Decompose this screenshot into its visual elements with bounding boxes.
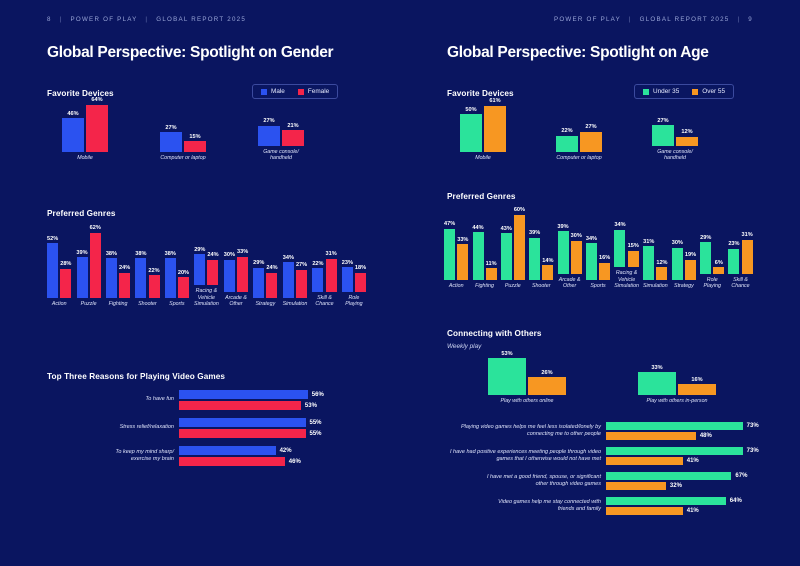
bar-value-label: 38%	[135, 251, 146, 257]
bar-row: 41%	[606, 457, 759, 465]
bar	[165, 258, 176, 298]
bar-group: 44%11%Fighting	[472, 210, 496, 290]
bar-row: 67%	[606, 472, 747, 480]
bar-value-label: 27%	[263, 118, 274, 124]
bar	[486, 268, 497, 280]
bar	[457, 244, 468, 280]
bar-pair: 38%22%	[135, 228, 159, 298]
bar-category-label: Action	[449, 283, 464, 290]
bar-row: 73%	[606, 422, 759, 430]
bar-pair: 29%24%	[253, 228, 277, 298]
bar-column: 34%	[283, 255, 294, 299]
bar-column: 39%	[529, 230, 540, 280]
bar-value-label: 6%	[715, 260, 723, 266]
runhead-brand: POWER OF PLAY	[71, 16, 138, 23]
bar-column: 16%	[599, 255, 610, 280]
bar-value-label: 64%	[726, 498, 742, 504]
bar	[580, 132, 602, 153]
bar-category-label: Mobile	[475, 155, 491, 162]
bar-group: 52%28%Action	[47, 228, 71, 308]
bar	[224, 260, 235, 292]
bar-category-label: Racing & Vehicle Simulation	[194, 288, 219, 308]
legend-label-over-55: Over 55	[702, 88, 725, 95]
bar-value-label: 29%	[253, 260, 264, 266]
bar-group: 33%16%Play with others in-person	[638, 353, 716, 405]
bar-column: 18%	[355, 265, 366, 292]
bar-value-label: 12%	[656, 260, 667, 266]
bar-value-label: 16%	[691, 377, 702, 383]
bar-column: 62%	[90, 225, 101, 298]
bar-column: 50%	[460, 107, 482, 153]
bar-column: 43%	[501, 226, 512, 281]
bar-group: 43%60%Puzzle	[501, 210, 525, 290]
row-bars: 56%53%	[179, 390, 324, 410]
bar	[713, 267, 724, 274]
bar-pair: 39%14%	[529, 210, 553, 280]
bar	[685, 260, 696, 281]
bar-column: 52%	[47, 236, 58, 299]
bar-pair: 34%27%	[283, 228, 307, 298]
bar-category-label: Arcade & Other	[225, 295, 247, 308]
row-label: I have had positive experiences meeting …	[422, 449, 606, 463]
row-label: To have fun	[47, 396, 179, 403]
bar-category-label: Role Playing	[345, 295, 362, 308]
bar-column: 39%	[557, 224, 568, 274]
bar	[556, 136, 578, 153]
bar	[678, 384, 716, 395]
bar	[283, 262, 294, 298]
bar	[179, 401, 301, 410]
bar	[179, 446, 276, 455]
bar-value-label: 23%	[728, 241, 739, 247]
bar-value-label: 52%	[47, 236, 58, 242]
bar-column: 39%	[76, 250, 87, 299]
page-title-right: Global Perspective: Spotlight on Age	[447, 44, 709, 62]
bar-category-label: Skill & Chance	[315, 295, 333, 308]
runhead-separator-r1: |	[624, 16, 637, 23]
bar-group: 30%19%Strategy	[672, 210, 696, 290]
bar-column: 38%	[135, 251, 146, 299]
bar-value-label: 24%	[119, 265, 130, 271]
bar-value-label: 26%	[541, 370, 552, 376]
bar-pair: 22%31%	[312, 222, 336, 292]
bar-column: 28%	[60, 261, 71, 298]
bar	[558, 231, 569, 274]
bar	[47, 243, 58, 298]
bar-category-label: Game console/ handheld	[657, 149, 693, 162]
bar-category-label: Sports	[590, 283, 605, 290]
bar-column: 61%	[484, 98, 506, 152]
table-row: Playing video games helps me feel less i…	[422, 422, 759, 440]
bar-value-label: 23%	[342, 260, 353, 266]
bar-value-label: 67%	[731, 473, 747, 479]
bar-pair: 29%6%	[700, 204, 724, 274]
bar-column: 60%	[514, 207, 525, 280]
bar-value-label: 30%	[672, 240, 683, 246]
bar-value-label: 33%	[651, 365, 662, 371]
table-row: To keep my mind sharp/ exercise my brain…	[47, 446, 324, 466]
bar	[77, 257, 88, 298]
bar-pair: 34%15%	[614, 197, 638, 267]
bar-value-label: 33%	[457, 237, 468, 243]
bar-value-label: 61%	[489, 98, 500, 104]
bar-column: 27%	[258, 118, 280, 146]
bar-value-label: 46%	[285, 459, 301, 465]
section-title-favorite-devices-right: Favorite Devices	[447, 89, 514, 98]
bar-column: 31%	[326, 251, 337, 291]
bar-category-label: Play with others online	[501, 398, 554, 405]
bar-value-label: 43%	[501, 226, 512, 232]
bar-row: 53%	[179, 401, 324, 410]
bar	[355, 273, 366, 292]
bar	[606, 432, 696, 440]
bar-value-label: 50%	[465, 107, 476, 113]
bar-group: 39%62%Puzzle	[76, 228, 100, 308]
bar	[179, 418, 306, 427]
bar	[599, 263, 610, 281]
bar-value-label: 27%	[585, 124, 596, 130]
bar-group: 34%27%Simulation	[283, 228, 308, 308]
bar-pair: 30%19%	[672, 210, 696, 280]
bar-value-label: 30%	[571, 233, 582, 239]
bar	[571, 241, 582, 274]
bar-row: 48%	[606, 432, 759, 440]
bar	[444, 229, 455, 280]
bar-column: 29%	[253, 260, 264, 298]
bar	[656, 267, 667, 280]
bar	[728, 249, 739, 274]
bar-group: 38%24%Fighting	[106, 228, 130, 308]
bar	[86, 105, 108, 153]
bar	[160, 132, 182, 152]
chart-favorite-devices-right: 50%61%Mobile22%27%Computer or laptop27%1…	[460, 100, 698, 162]
row-label: Stress relief/relaxation	[47, 424, 179, 431]
bar-category-label: Role Playing	[704, 277, 721, 290]
bar-pair: 22%27%	[556, 100, 602, 152]
bar	[606, 422, 743, 430]
bar	[606, 482, 666, 490]
bar-pair: 50%61%	[460, 100, 506, 152]
bar-pair: 29%24%	[194, 215, 218, 285]
bar-pair: 38%24%	[106, 228, 130, 298]
bar	[606, 507, 683, 515]
chart-connecting-statements: Playing video games helps me feel less i…	[422, 422, 759, 515]
bar-value-label: 24%	[266, 265, 277, 271]
runhead-report-right: GLOBAL REPORT 2025	[640, 16, 730, 23]
bar-value-label: 41%	[683, 508, 699, 514]
bar-value-label: 62%	[90, 225, 101, 231]
bar	[700, 242, 711, 274]
bar	[460, 114, 482, 152]
bar	[676, 137, 698, 146]
bar	[194, 254, 205, 285]
bar-column: 27%	[580, 124, 602, 152]
bar-pair: 30%33%	[224, 222, 248, 292]
bar	[529, 238, 540, 281]
table-row: To have fun56%53%	[47, 390, 324, 410]
bar-row: 73%	[606, 447, 759, 455]
bar-column: 34%	[586, 236, 597, 281]
bar-column: 47%	[444, 221, 455, 280]
bar-value-label: 33%	[237, 249, 248, 255]
bar-category-label: Fighting	[475, 283, 494, 290]
bar-column: 21%	[282, 123, 304, 146]
bar-pair: 38%20%	[165, 228, 189, 298]
bar-column: 16%	[678, 377, 716, 396]
bar-column: 33%	[638, 365, 676, 396]
bar-group: 29%24%Racing & Vehicle Simulation	[194, 215, 219, 308]
chart-top-reasons: To have fun56%53%Stress relief/relaxatio…	[47, 390, 324, 466]
section-title-reasons: Top Three Reasons for Playing Video Game…	[47, 372, 225, 381]
bar	[179, 390, 308, 399]
row-bars: 42%46%	[179, 446, 301, 466]
bar-column: 12%	[656, 260, 667, 281]
bar-row: 41%	[606, 507, 742, 515]
bar-value-label: 38%	[165, 251, 176, 257]
bar-category-label: Game console/ handheld	[263, 149, 299, 162]
bar-group: 23%18%Role Playing	[342, 222, 366, 308]
bar-group: 30%33%Arcade & Other	[224, 222, 248, 308]
bar-pair: 27%15%	[160, 100, 206, 152]
bar-group: 27%15%Computer or laptop	[160, 100, 206, 162]
bar-row: 55%	[179, 418, 322, 427]
bar-group: 34%15%Racing & Vehicle Simulation	[614, 197, 639, 290]
bar-value-label: 39%	[557, 224, 568, 230]
row-label: I have met a good friend, spouse, or sig…	[422, 474, 606, 488]
bar-value-label: 15%	[628, 243, 639, 249]
bar-value-label: 53%	[501, 351, 512, 357]
bar-column: 15%	[628, 243, 639, 267]
section-title-connecting: Connecting with Others	[447, 329, 542, 338]
bar-value-label: 56%	[308, 392, 324, 398]
bar	[643, 246, 654, 280]
runhead-separator: |	[55, 16, 68, 23]
bar-category-label: Racing & Vehicle Simulation	[614, 270, 639, 290]
bar	[282, 130, 304, 146]
bar-value-label: 27%	[296, 262, 307, 268]
bar-column: 31%	[742, 232, 753, 273]
row-bars: 73%41%	[606, 447, 759, 465]
bar-group: 47%33%Action	[444, 210, 468, 290]
bar-group: 23%31%Skill & Chance	[728, 204, 752, 290]
bar-column: 30%	[571, 233, 582, 273]
bar	[638, 372, 676, 395]
bar-group: 22%31%Skill & Chance	[312, 222, 336, 308]
bar-column: 22%	[312, 261, 323, 292]
chart-weekly-play: 53%26%Play with others online33%16%Play …	[488, 355, 716, 405]
bar-value-label: 12%	[681, 129, 692, 135]
bar-pair: 44%11%	[472, 210, 496, 280]
bar-pair: 39%30%	[557, 204, 581, 274]
bar	[672, 248, 683, 281]
bar	[253, 268, 264, 299]
bar-column: 11%	[486, 261, 497, 281]
bar	[514, 215, 525, 281]
bar-category-label: Puzzle	[505, 283, 521, 290]
bar-group: 38%22%Shooter	[135, 228, 159, 308]
bar-pair: 27%21%	[258, 94, 304, 146]
bar-column: 64%	[86, 97, 108, 152]
bar-value-label: 34%	[614, 222, 625, 228]
chart-preferred-genres-right: 47%33%Action44%11%Fighting43%60%Puzzle39…	[444, 210, 753, 290]
bar	[179, 429, 306, 438]
bar-group: 27%21%Game console/ handheld	[258, 94, 304, 162]
bar	[542, 265, 553, 280]
bar	[326, 259, 337, 292]
bar-value-label: 41%	[683, 458, 699, 464]
bar-group: 46%64%Mobile	[62, 100, 108, 162]
chart-preferred-genres-left: 52%28%Action39%62%Puzzle38%24%Fighting38…	[47, 228, 366, 308]
bar	[606, 497, 726, 505]
bar	[258, 126, 280, 146]
bar-column: 19%	[685, 252, 696, 280]
bar-value-label: 55%	[306, 420, 322, 426]
bar-group: 53%26%Play with others online	[488, 353, 566, 405]
bar	[742, 240, 753, 274]
bar-value-label: 53%	[301, 403, 317, 409]
bar-column: 20%	[178, 270, 189, 299]
bar-group: 34%16%Sports	[586, 210, 610, 290]
bar-column: 34%	[614, 222, 625, 267]
bar-value-label: 22%	[148, 268, 159, 274]
bar-value-label: 73%	[743, 423, 759, 429]
bar-pair: 23%18%	[342, 222, 366, 292]
bar-group: 31%12%Simulation	[643, 210, 668, 290]
bar-group: 50%61%Mobile	[460, 100, 506, 162]
bar-value-label: 29%	[700, 235, 711, 241]
bar	[266, 273, 277, 298]
row-label: Video games help me stay connected with …	[422, 499, 606, 513]
table-row: Video games help me stay connected with …	[422, 497, 759, 515]
bar-category-label: Simulation	[283, 301, 308, 308]
bar-column: 22%	[556, 128, 578, 152]
bar-row: 32%	[606, 482, 747, 490]
bar-group: 29%24%Strategy	[253, 228, 277, 308]
bar-row: 55%	[179, 429, 322, 438]
bar-value-label: 34%	[283, 255, 294, 261]
page-title-left: Global Perspective: Spotlight on Gender	[47, 44, 333, 62]
bar	[488, 358, 526, 395]
bar-category-label: Puzzle	[81, 301, 97, 308]
bar-column: 27%	[296, 262, 307, 298]
bar-column: 27%	[160, 125, 182, 153]
bar	[237, 257, 248, 292]
bar-pair: 27%12%	[652, 94, 698, 146]
row-label: Playing video games helps me feel less i…	[422, 424, 606, 438]
bar-column: 23%	[728, 241, 739, 274]
table-row: I have had positive experiences meeting …	[422, 447, 759, 465]
bar-value-label: 31%	[326, 251, 337, 257]
bar-value-label: 48%	[696, 433, 712, 439]
bar-category-label: Action	[52, 301, 67, 308]
bar	[484, 106, 506, 153]
bar-value-label: 73%	[743, 448, 759, 454]
bar-value-label: 11%	[486, 261, 497, 267]
bar-category-label: Play with others in-person	[647, 398, 708, 405]
bar	[312, 268, 323, 291]
row-bars: 67%32%	[606, 472, 747, 490]
bar	[149, 275, 160, 298]
bar	[135, 258, 146, 298]
bar-value-label: 18%	[355, 265, 366, 271]
bar	[528, 377, 566, 395]
runhead-separator-2: |	[140, 16, 153, 23]
bar-group: 39%14%Shooter	[529, 210, 553, 290]
runhead-separator-r2: |	[732, 16, 745, 23]
bar-group: 29%6%Role Playing	[700, 204, 724, 290]
bar-row: 56%	[179, 390, 324, 399]
running-head-left: 8 | POWER OF PLAY | GLOBAL REPORT 2025	[47, 16, 246, 23]
bar	[60, 269, 71, 299]
bar-column: 14%	[542, 258, 553, 281]
bar-column: 24%	[207, 252, 218, 285]
bar-column: 38%	[106, 251, 117, 299]
bar-value-label: 47%	[444, 221, 455, 227]
bar-value-label: 38%	[106, 251, 117, 257]
bar-value-label: 46%	[67, 111, 78, 117]
bar-value-label: 31%	[643, 239, 654, 245]
bar-category-label: Arcade & Other	[559, 277, 581, 290]
bar-value-label: 30%	[224, 252, 235, 258]
bar-value-label: 42%	[276, 448, 292, 454]
bar-column: 30%	[672, 240, 683, 280]
bar-column: 31%	[643, 239, 654, 280]
bar-value-label: 39%	[529, 230, 540, 236]
row-bars: 64%41%	[606, 497, 742, 515]
bar-row: 42%	[179, 446, 301, 455]
bar-value-label: 22%	[561, 128, 572, 134]
bar-category-label: Computer or laptop	[160, 155, 205, 162]
bar	[606, 457, 683, 465]
bar-group: 39%30%Arcade & Other	[557, 204, 581, 290]
bar-value-label: 16%	[599, 255, 610, 261]
bar-value-label: 60%	[514, 207, 525, 213]
bar	[90, 233, 101, 299]
bar-category-label: Simulation	[643, 283, 668, 290]
bar	[119, 273, 130, 298]
bar	[652, 125, 674, 146]
bar-pair: 52%28%	[47, 228, 71, 298]
bar-value-label: 39%	[76, 250, 87, 256]
left-page: 8 | POWER OF PLAY | GLOBAL REPORT 2025 G…	[0, 0, 400, 566]
section-title-preferred-genres-left: Preferred Genres	[47, 209, 116, 218]
bar	[606, 472, 731, 480]
bar-pair: 34%16%	[586, 210, 610, 280]
bar-value-label: 44%	[472, 225, 483, 231]
bar	[62, 118, 84, 152]
row-bars: 73%48%	[606, 422, 759, 440]
bar-value-label: 27%	[657, 118, 668, 124]
bar-pair: 53%26%	[488, 353, 566, 395]
bar	[586, 243, 597, 280]
bar-column: 24%	[266, 265, 277, 298]
table-row: Stress relief/relaxation55%55%	[47, 418, 324, 438]
bar-column: 23%	[342, 260, 353, 292]
bar	[473, 232, 484, 280]
bar-column: 29%	[194, 247, 205, 285]
bar-value-label: 14%	[542, 258, 553, 264]
bar-value-label: 21%	[287, 123, 298, 129]
bar	[179, 457, 285, 466]
bar	[501, 233, 512, 280]
bar-value-label: 31%	[742, 232, 753, 238]
bar-value-label: 19%	[685, 252, 696, 258]
right-page: POWER OF PLAY | GLOBAL REPORT 2025 | 9 G…	[400, 0, 800, 566]
row-label: To keep my mind sharp/ exercise my brain	[47, 449, 179, 463]
bar-pair: 31%12%	[643, 210, 667, 280]
bar-category-label: Mobile	[77, 155, 93, 162]
runhead-brand-right: POWER OF PLAY	[554, 16, 621, 23]
